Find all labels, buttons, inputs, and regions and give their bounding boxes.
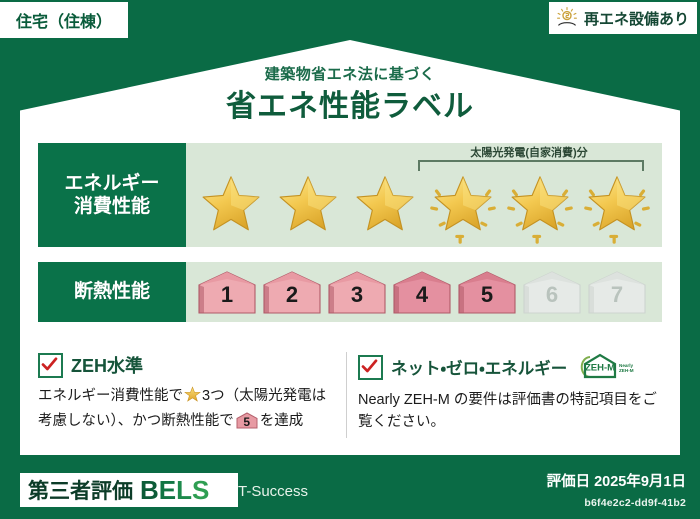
star-2 xyxy=(275,174,341,238)
grade-badge-2: 2 xyxy=(261,269,323,315)
grade-value: 1 xyxy=(221,284,233,315)
zeh-standard-title: ZEH水準 xyxy=(71,352,143,378)
zeh-m-logo-text: ZEH-M xyxy=(585,363,615,374)
renewable-badge-label: 再エネ設備あり xyxy=(584,8,689,29)
grade-badge-6: 6 xyxy=(521,269,583,315)
insulation-label: 断熱性能 xyxy=(74,280,150,303)
net-zero-title: ネット・ゼロ・エネルギー xyxy=(391,355,567,379)
insulation-performance-label-box: 断熱性能 xyxy=(38,262,186,322)
star-rating xyxy=(186,167,662,245)
energy-performance-label-box: エネルギー 消費性能 xyxy=(38,143,186,247)
zeh-standard-body: エネルギー消費性能で3つ（太陽光発電は考慮しない）、かつ断熱性能で5を達成 xyxy=(38,385,338,433)
sun-icon xyxy=(555,6,579,30)
insulation-grades-panel: 1 2 3 4 5 xyxy=(186,262,662,322)
third-party-label: 第三者評価 xyxy=(28,475,133,505)
label-uid: b6f4e2c2-dd9f-41b2 xyxy=(584,497,686,509)
page-title: 省エネ性能ラベル xyxy=(0,81,700,125)
grade-list: 1 2 3 4 5 xyxy=(186,262,662,322)
zeh-m-logo-icon: ZEH-M Nearly ZEH-M xyxy=(577,352,635,382)
check-icon xyxy=(41,356,58,373)
grade-badge-1: 1 xyxy=(196,269,258,315)
solar-note-label: 太陽光発電(自家消費)分 xyxy=(414,144,644,160)
bels-letter: E xyxy=(159,475,176,505)
category-tag: 住宅（住棟） xyxy=(0,2,128,38)
evaluation-date: 評価日 2025年9月1日 xyxy=(547,470,686,491)
renewable-energy-badge: 再エネ設備あり xyxy=(549,2,697,34)
insulation-performance-row: 断熱性能 1 2 3 4 xyxy=(38,262,662,322)
net-zero-checkbox[interactable] xyxy=(358,355,383,380)
star-3 xyxy=(352,174,418,238)
bels-letter: B xyxy=(140,475,159,505)
zeh-m-logo-sub2: ZEH-M xyxy=(619,368,634,373)
star-6 xyxy=(584,174,650,238)
zeh-standard-checkbox[interactable] xyxy=(38,353,63,378)
star-1 xyxy=(198,174,264,238)
zeh-body-part1: エネルギー消費性能で xyxy=(38,388,183,404)
grade-value: 2 xyxy=(286,284,298,315)
zeh-divider xyxy=(346,352,347,438)
energy-label-line1: エネルギー xyxy=(64,172,159,195)
zeh-standard-block: ZEH水準 エネルギー消費性能で3つ（太陽光発電は考慮しない）、かつ断熱性能で5… xyxy=(38,352,338,433)
grade-badge-5: 5 xyxy=(456,269,518,315)
solar-bracket xyxy=(418,160,644,171)
grade-value: 5 xyxy=(481,284,493,315)
bels-letter: L xyxy=(176,475,192,505)
bels-logo: BELS xyxy=(140,475,209,506)
grade-badge-4: 4 xyxy=(391,269,453,315)
inline-grade-badge: 5 xyxy=(236,412,258,429)
grade-badge-3: 3 xyxy=(326,269,388,315)
net-zero-energy-block: ネット・ゼロ・エネルギー ZEH-M Nearly ZEH-M Nearly Z… xyxy=(358,352,668,434)
grade-value: 7 xyxy=(611,284,623,315)
grade-value: 4 xyxy=(416,284,428,315)
inline-grade-value: 5 xyxy=(236,412,258,429)
check-icon xyxy=(361,358,378,375)
zeh-body-part3: を達成 xyxy=(260,413,304,429)
grade-value: 3 xyxy=(351,284,363,315)
bels-letter: S xyxy=(192,475,209,505)
net-zero-body: Nearly ZEH-M の要件は評価書の特記項目をご覧ください。 xyxy=(358,389,668,434)
zeh-standard-header: ZEH水準 xyxy=(38,352,338,378)
grade-badge-7: 7 xyxy=(586,269,648,315)
net-zero-header: ネット・ゼロ・エネルギー ZEH-M Nearly ZEH-M xyxy=(358,352,668,382)
bels-plate: 第三者評価 BELS xyxy=(20,473,238,507)
grade-value: 6 xyxy=(546,284,558,315)
energy-label-line2: 消費性能 xyxy=(74,195,150,218)
inline-star-icon xyxy=(184,391,201,407)
star-5 xyxy=(507,174,573,238)
star-4 xyxy=(430,174,496,238)
energy-performance-label: 住宅（住棟） 再エネ設備あり 建築物省エネ法に基づく xyxy=(0,0,700,519)
energy-stars-panel: 太陽光発電(自家消費)分 xyxy=(186,143,662,247)
energy-performance-row: エネルギー 消費性能 太陽光発電(自家消費)分 xyxy=(38,143,662,247)
corporation-name: T-Success xyxy=(238,483,308,500)
